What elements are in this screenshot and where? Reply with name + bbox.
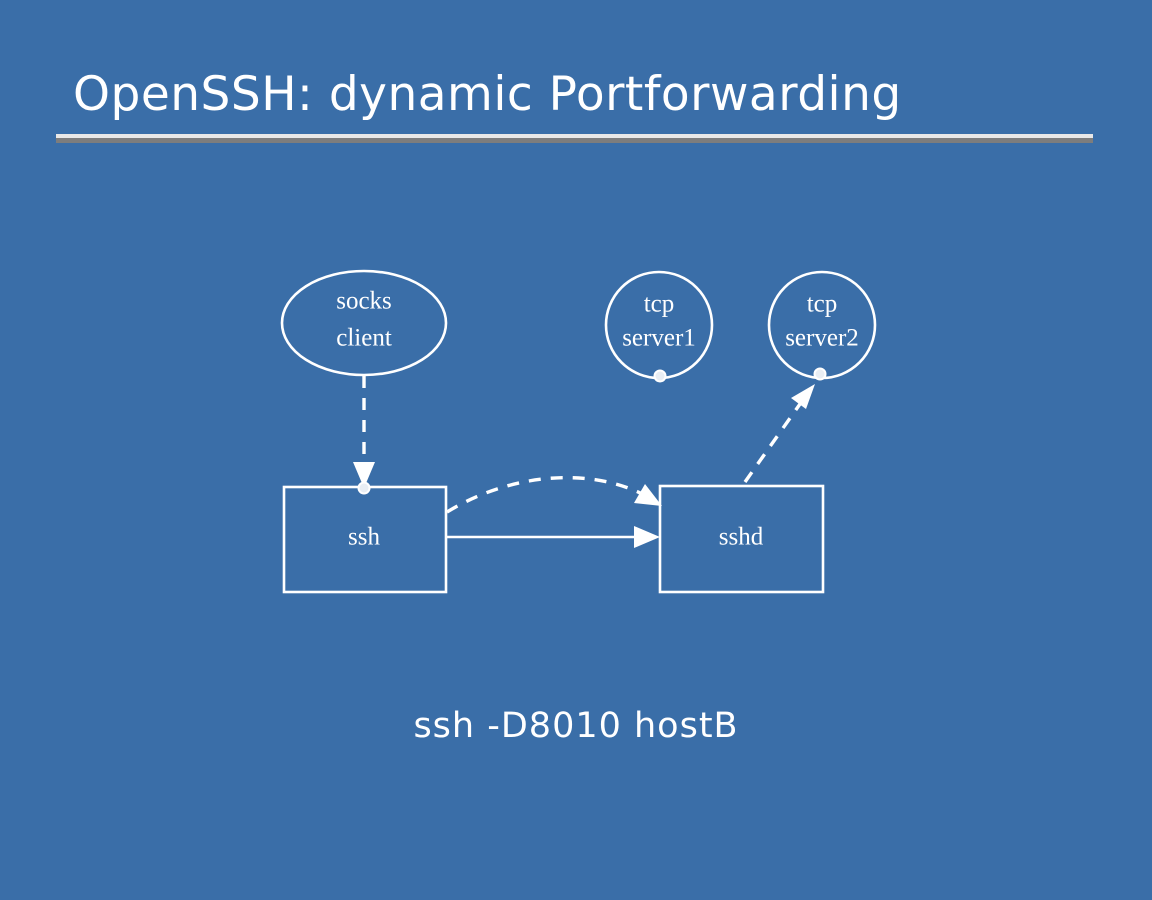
node-tcp-server2[interactable]: tcp server2 (769, 272, 875, 380)
slide: OpenSSH: dynamic Portforwarding (0, 0, 1152, 900)
node-ssh-label: ssh (348, 524, 380, 551)
node-sshd[interactable]: sshd (660, 486, 823, 592)
edge-ssh-to-sshd (447, 526, 660, 548)
node-socks-client-label-line2: client (336, 325, 392, 352)
edge-sshd-to-tcp-server2 (745, 384, 815, 482)
port-dot-ssh (359, 483, 370, 494)
port-dot-tcp-server2 (815, 369, 826, 380)
node-tcp-server1-label-line2: server1 (622, 325, 696, 352)
node-ssh[interactable]: ssh (284, 483, 446, 593)
node-tcp-server2-label-line2: server2 (785, 325, 859, 352)
port-dot-tcp-server1 (655, 371, 666, 382)
network-diagram: socks client tcp server1 tcp server2 ssh (0, 0, 1152, 900)
edge-socks-client-to-ssh (353, 376, 375, 488)
node-tcp-server1-label-line1: tcp (644, 291, 675, 318)
node-tcp-server1[interactable]: tcp server1 (606, 272, 712, 382)
edge-ssh-to-sshd-tunnel (447, 478, 662, 512)
command-caption: ssh -D8010 hostB (0, 706, 1152, 746)
node-tcp-server2-label-line1: tcp (807, 291, 838, 318)
node-sshd-label: sshd (719, 524, 764, 551)
node-socks-client-label-line1: socks (336, 288, 392, 315)
node-socks-client[interactable]: socks client (282, 271, 446, 375)
